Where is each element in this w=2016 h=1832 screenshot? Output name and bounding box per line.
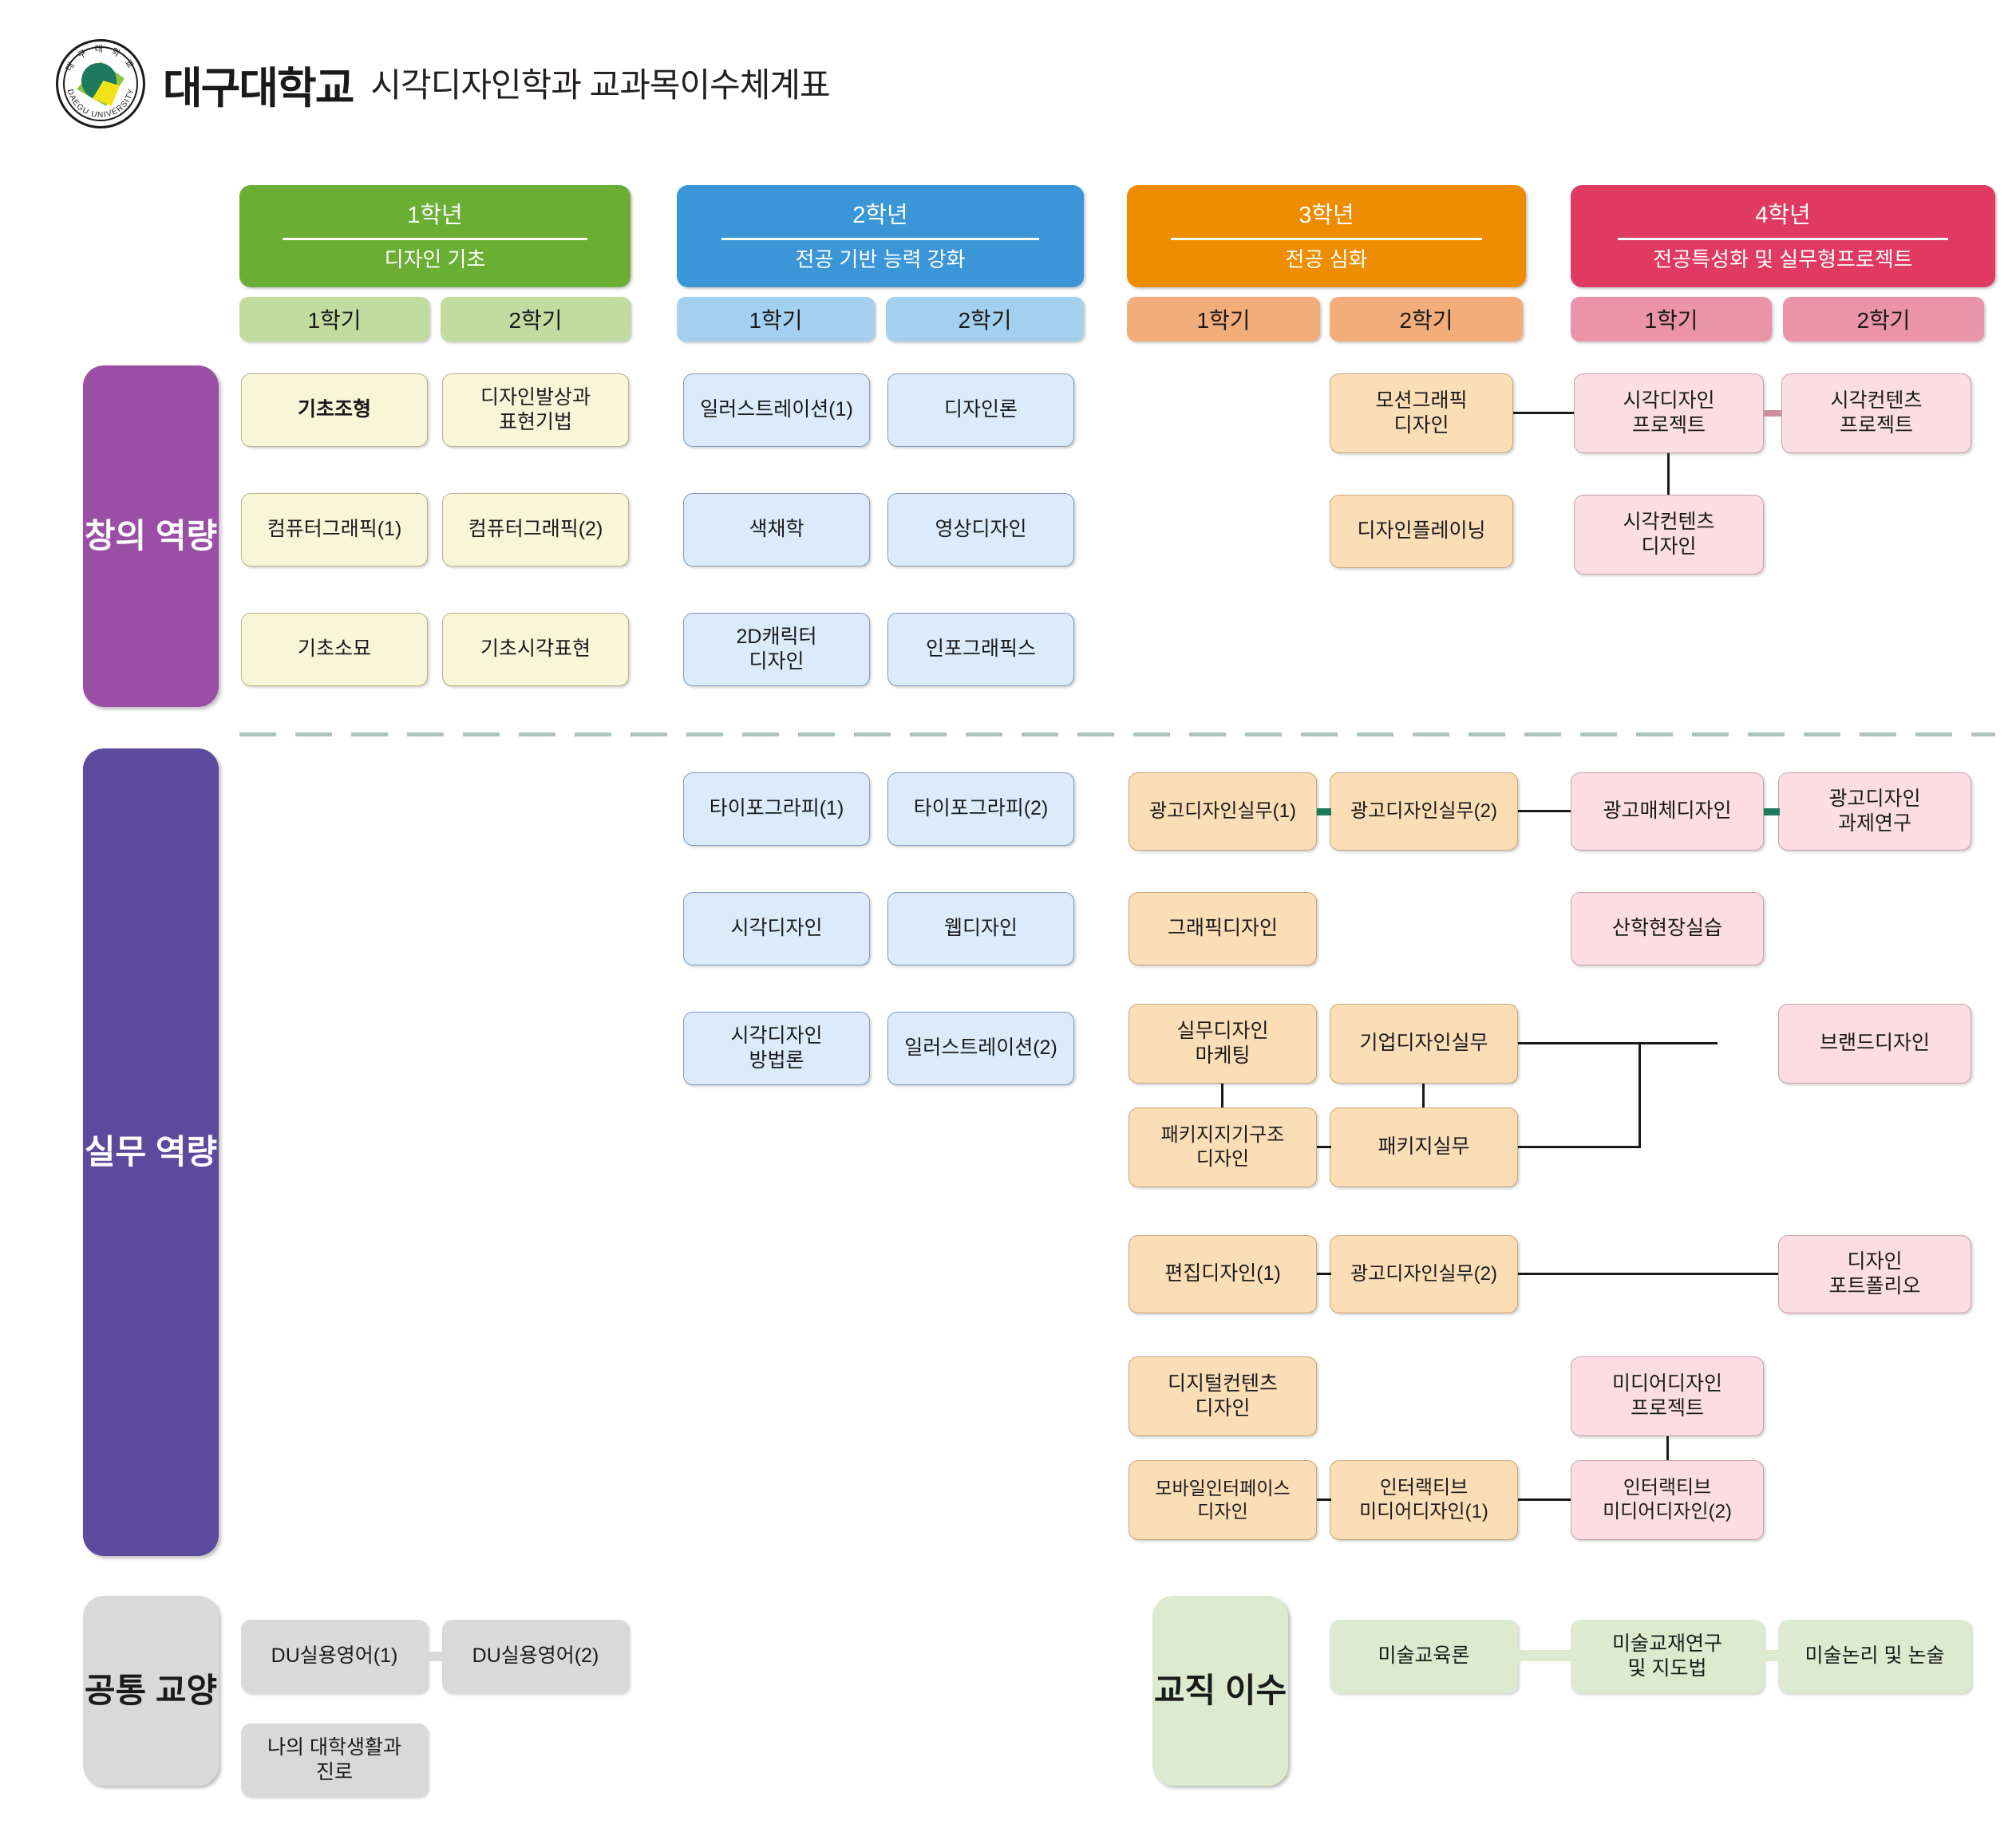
course-box[interactable]: 일러스트레이션(1): [683, 373, 870, 447]
year-label-4: 4학년: [1755, 202, 1811, 229]
section-divider: [239, 732, 1995, 736]
course-box[interactable]: 실무디자인 마케팅: [1129, 1004, 1317, 1084]
course-box[interactable]: 광고디자인 과제연구: [1778, 772, 1971, 851]
course-box[interactable]: 편집디자인(1): [1129, 1235, 1317, 1313]
course-box[interactable]: 패키지실무: [1330, 1107, 1518, 1187]
semester-2-1[interactable]: 1학기: [677, 297, 875, 342]
semester-1-1[interactable]: 1학기: [239, 297, 429, 342]
course-box[interactable]: 웹디자인: [887, 892, 1074, 965]
connector: [1518, 1498, 1571, 1501]
course-box[interactable]: 기초시각표현: [442, 613, 629, 686]
course-box[interactable]: 디자인론: [887, 373, 1074, 447]
course-box[interactable]: 나의 대학생활과 진로: [241, 1723, 428, 1797]
connector: [1764, 410, 1781, 417]
course-box[interactable]: 인터랙티브 미디어디자인(1): [1330, 1460, 1518, 1540]
course-box[interactable]: 영상디자인: [887, 493, 1074, 567]
semester-4-2[interactable]: 2학기: [1783, 297, 1984, 342]
course-box[interactable]: 디지털컨텐츠 디자인: [1129, 1356, 1317, 1436]
year-subtitle-2: 전공 기반 능력 강화: [795, 248, 965, 271]
university-name: 대구대학교: [163, 53, 353, 116]
connector: [1221, 1084, 1223, 1107]
university-logo-icon: 대 구 대 학 교 DAEGU UNIVERSITY 1956: [56, 39, 145, 128]
course-box[interactable]: 인터랙티브 미디어디자인(2): [1571, 1460, 1764, 1540]
year-header-4[interactable]: 4학년 전공특성화 및 실무형프로젝트: [1571, 185, 1995, 287]
svg-text:대 구 대 학 교: 대 구 대 학 교: [64, 44, 136, 73]
year-label-3: 3학년: [1299, 202, 1354, 229]
connector: [1666, 1436, 1669, 1460]
connector: [1764, 808, 1780, 815]
course-box[interactable]: 기초소묘: [241, 613, 428, 686]
year-subtitle-4: 전공특성화 및 실무형프로젝트: [1653, 248, 1912, 271]
page-title: 시각디자인학과 교과목이수체계표: [370, 58, 829, 110]
course-box[interactable]: 타이포그라피(2): [887, 772, 1074, 846]
course-box[interactable]: 미술교재연구 및 지도법: [1571, 1620, 1764, 1693]
course-box[interactable]: 디자인 포트폴리오: [1778, 1235, 1971, 1313]
course-box[interactable]: 타이포그라피(1): [683, 772, 870, 846]
year-label-2: 2학년: [852, 202, 908, 229]
year-label-1: 1학년: [407, 202, 463, 229]
semester-3-2[interactable]: 2학기: [1330, 297, 1523, 342]
connector: [1317, 1273, 1331, 1275]
course-box[interactable]: 기업디자인실무: [1330, 1004, 1518, 1084]
course-box[interactable]: 광고디자인실무(2): [1330, 1235, 1518, 1313]
course-box[interactable]: 색채학: [683, 493, 870, 567]
course-box[interactable]: 디자인발상과 표현기법: [442, 373, 629, 447]
course-box[interactable]: 시각컨텐츠 프로젝트: [1781, 373, 1971, 453]
year-header-2[interactable]: 2학년 전공 기반 능력 강화: [677, 185, 1084, 287]
course-box[interactable]: 모바일인터페이스 디자인: [1129, 1460, 1317, 1540]
course-box[interactable]: 패키지지기구조 디자인: [1129, 1107, 1317, 1187]
connector: [1518, 1273, 1778, 1275]
course-box[interactable]: 브랜드디자인: [1778, 1004, 1971, 1084]
course-box[interactable]: 미술교육론: [1330, 1620, 1518, 1693]
connector: [1762, 1650, 1780, 1661]
year-header-3[interactable]: 3학년 전공 심화: [1127, 185, 1526, 287]
connector: [1317, 1146, 1331, 1148]
connector: [1518, 1146, 1641, 1148]
semester-3-1[interactable]: 1학기: [1127, 297, 1320, 342]
connector: [1516, 1650, 1572, 1661]
course-box[interactable]: 광고디자인실무(1): [1129, 772, 1317, 851]
track-label-general[interactable]: 공통 교양: [83, 1596, 219, 1786]
course-box[interactable]: 시각디자인: [683, 892, 870, 965]
course-box[interactable]: DU실용영어(1): [241, 1620, 428, 1693]
connector: [1638, 1042, 1641, 1148]
course-box[interactable]: 광고매체디자인: [1571, 772, 1764, 851]
year-subtitle-1: 디자인 기초: [385, 248, 486, 271]
connector: [1518, 810, 1571, 812]
course-box[interactable]: 컴퓨터그래픽(1): [241, 493, 428, 567]
year-divider-1: [283, 238, 587, 240]
connector: [1317, 1498, 1331, 1501]
year-divider-3: [1171, 238, 1482, 240]
course-box[interactable]: 시각디자인 프로젝트: [1574, 373, 1764, 453]
course-box[interactable]: 시각컨텐츠 디자인: [1574, 495, 1764, 574]
year-header-1[interactable]: 1학년 디자인 기초: [239, 185, 630, 287]
track-label-practical[interactable]: 실무 역량: [83, 748, 219, 1556]
track-label-creative[interactable]: 창의 역량: [83, 365, 219, 707]
course-box[interactable]: 2D캐릭터 디자인: [683, 613, 870, 686]
connector: [1513, 412, 1574, 414]
course-box[interactable]: DU실용영어(2): [442, 1620, 629, 1693]
course-box[interactable]: 시각디자인 방법론: [683, 1012, 870, 1085]
semester-1-2[interactable]: 2학기: [441, 297, 630, 342]
course-box[interactable]: 미디어디자인 프로젝트: [1571, 1356, 1764, 1436]
connector: [1422, 1084, 1425, 1107]
year-divider-2: [721, 238, 1039, 240]
track-label-teaching[interactable]: 교직 이수: [1152, 1596, 1288, 1786]
connector: [1667, 453, 1670, 495]
course-box[interactable]: 미술논리 및 논술: [1778, 1620, 1971, 1693]
year-divider-4: [1618, 238, 1949, 240]
course-box[interactable]: 컴퓨터그래픽(2): [442, 493, 629, 567]
course-box[interactable]: 기초조형: [241, 373, 428, 447]
semester-4-1[interactable]: 1학기: [1571, 297, 1772, 342]
connector: [1317, 808, 1331, 815]
course-box[interactable]: 일러스트레이션(2): [887, 1012, 1074, 1085]
connector: [1518, 1042, 1718, 1044]
course-box[interactable]: 그래픽디자인: [1129, 892, 1317, 965]
course-box[interactable]: 모션그래픽 디자인: [1330, 373, 1513, 453]
semester-2-2[interactable]: 2학기: [886, 297, 1084, 342]
year-subtitle-3: 전공 심화: [1286, 248, 1368, 271]
course-box[interactable]: 광고디자인실무(2): [1330, 772, 1518, 851]
course-box[interactable]: 디자인플레이닝: [1330, 495, 1513, 568]
course-box[interactable]: 산학현장실습: [1571, 892, 1764, 965]
course-box[interactable]: 인포그래픽스: [887, 613, 1074, 686]
page-header: 대 구 대 학 교 DAEGU UNIVERSITY 1956 대구대학교 시각…: [56, 40, 830, 128]
connector: [428, 1652, 442, 1661]
